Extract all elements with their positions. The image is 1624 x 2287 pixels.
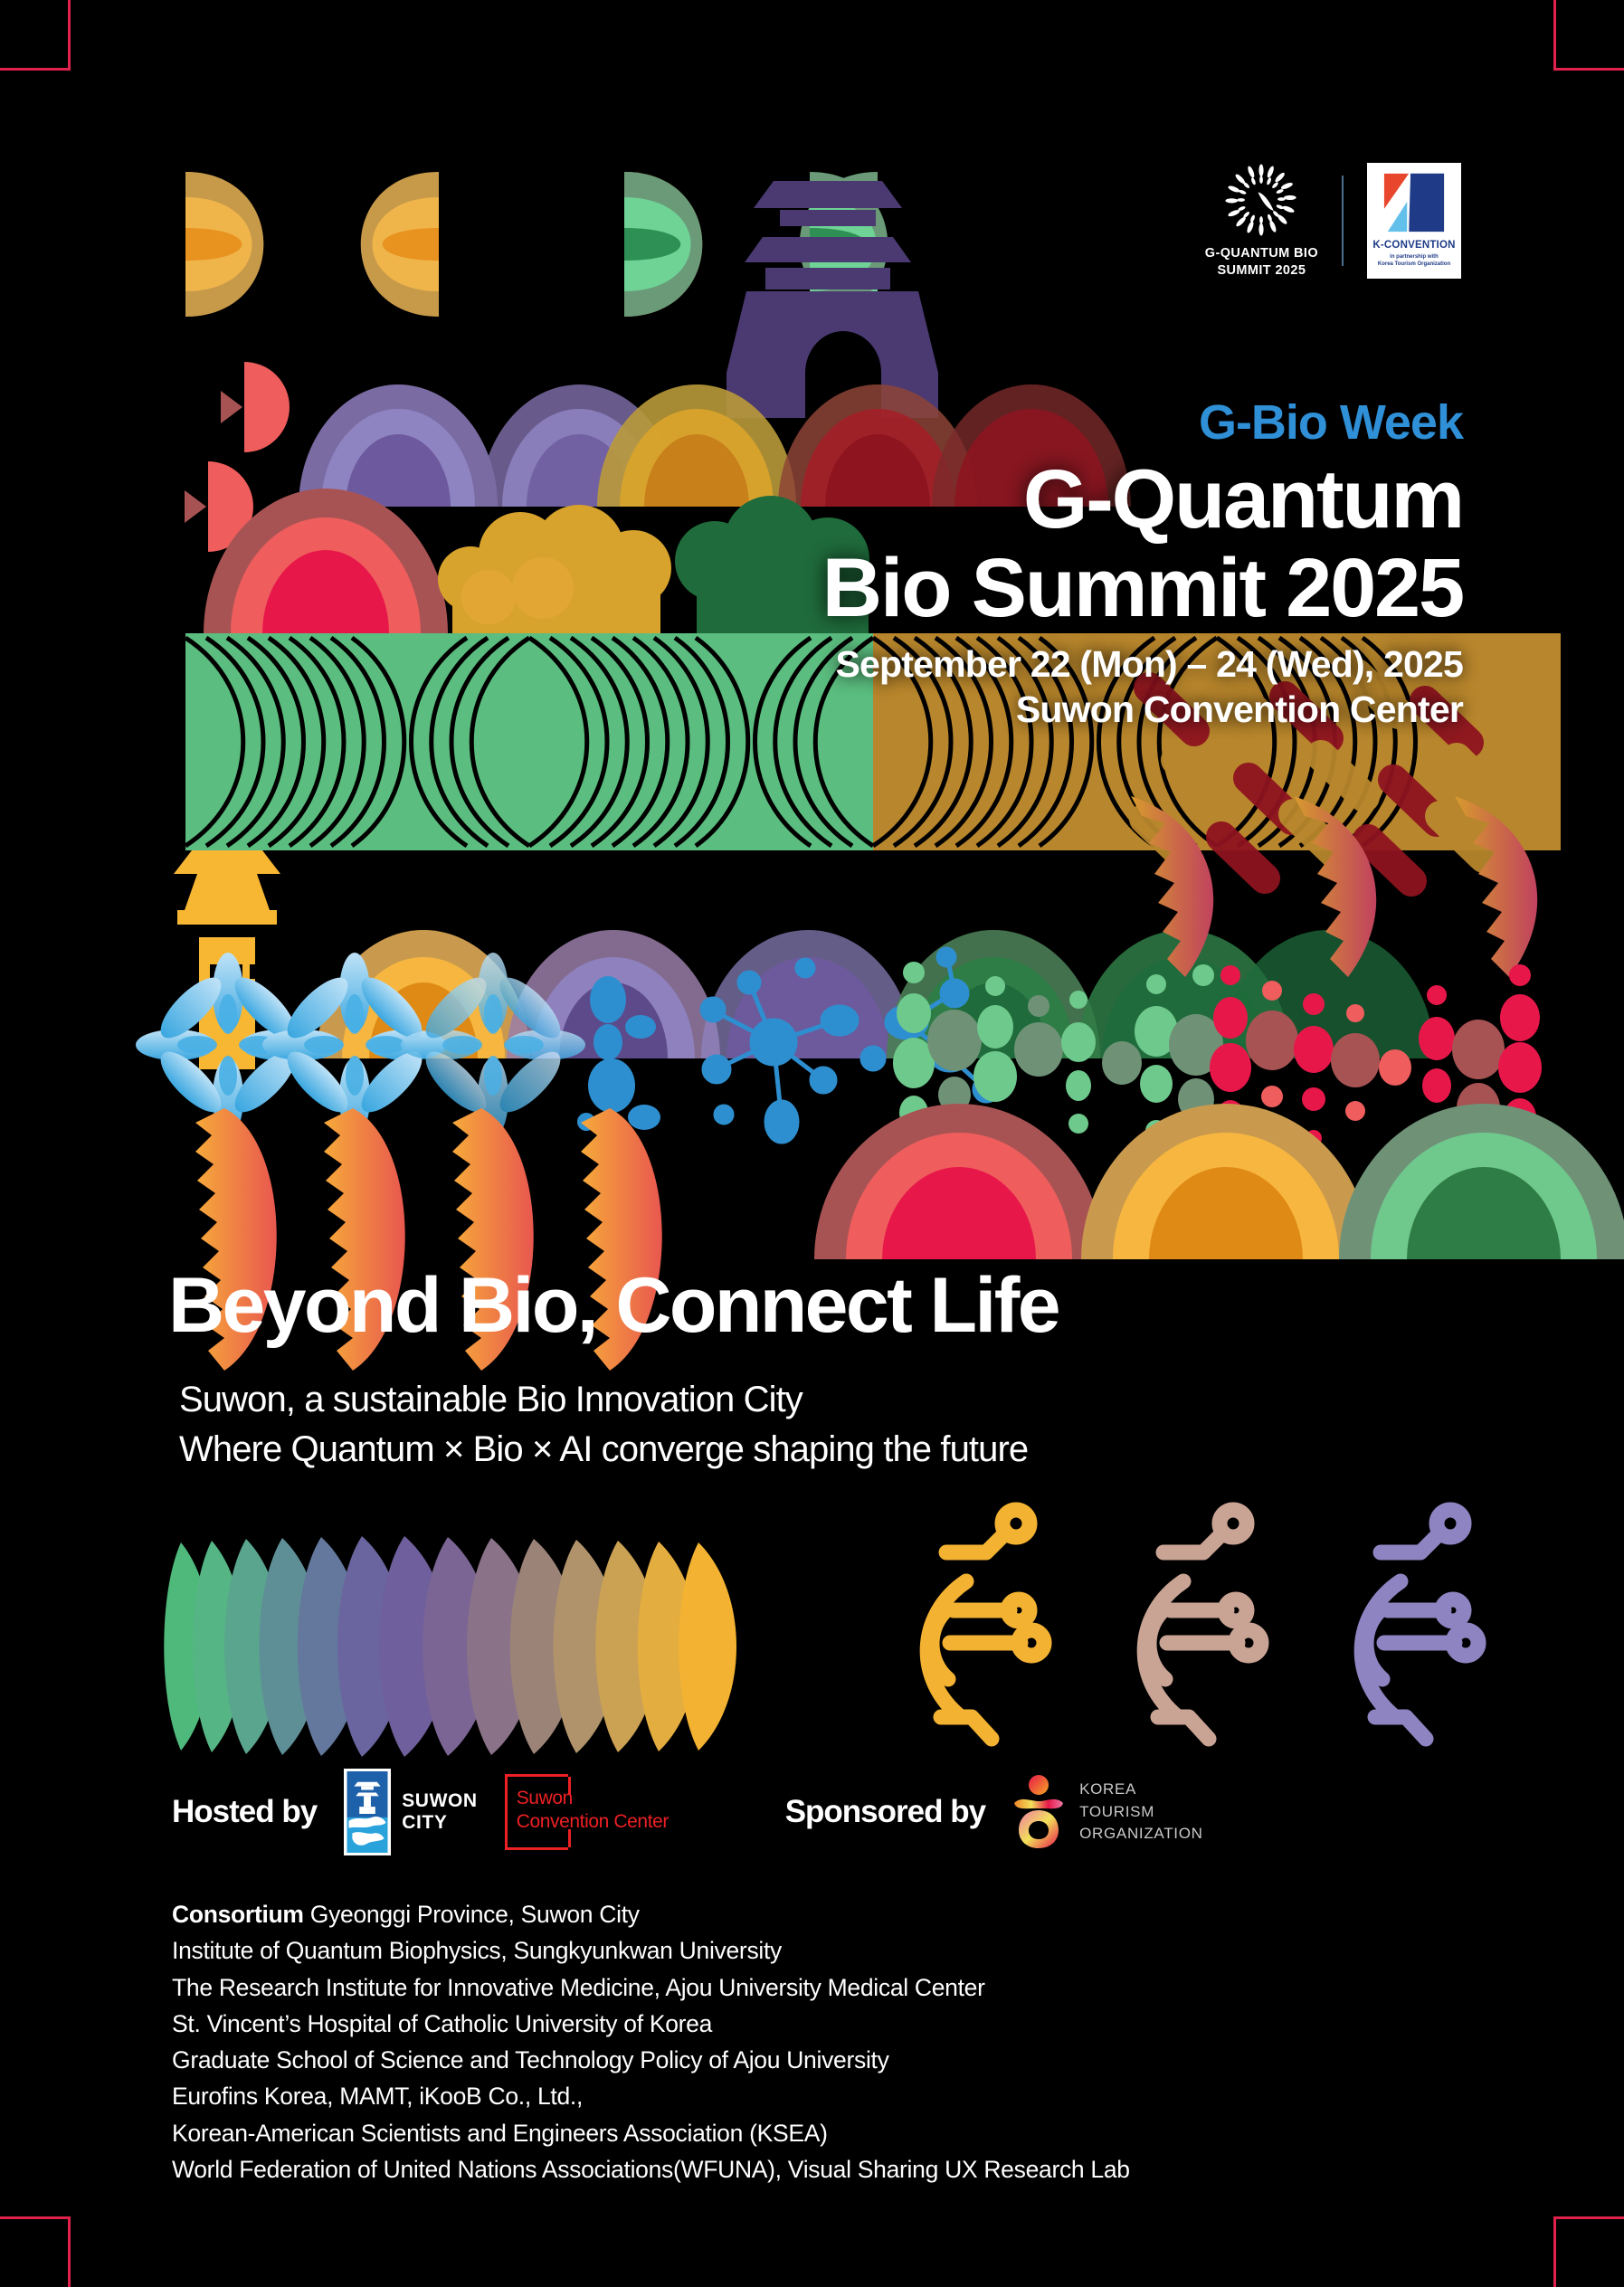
kto-line3: ORGANIZATION (1079, 1823, 1203, 1846)
sponsored-by-label: Sponsored by (785, 1794, 985, 1830)
consortium-line: Graduate School of Science and Technolog… (172, 2042, 1130, 2078)
event-logo: G-QUANTUM BIO SUMMIT 2025 (1205, 161, 1318, 280)
crop-mark-top-right (1543, 0, 1624, 81)
event-logo-line2: SUMMIT 2025 (1205, 262, 1318, 280)
event-venue: Suwon Convention Center (822, 687, 1463, 732)
radial-burst-icon (1222, 161, 1300, 239)
dome-cloud-tree (204, 489, 869, 637)
suwon-city-tower-icon (347, 1771, 388, 1853)
suwon-city-line2: CITY (402, 1812, 478, 1834)
arch-row-3 (814, 1104, 1624, 1259)
k-convention-subtitle: in partnership with Korea Tourism Organi… (1378, 253, 1450, 268)
logo-divider (1342, 176, 1344, 266)
slogan-main: Beyond Bio, Connect Life (168, 1267, 1059, 1344)
slogan-sublines: Suwon, a sustainable Bio Innovation City… (179, 1375, 1028, 1475)
k-convention-logo: K-CONVENTION in partnership with Korea T… (1367, 163, 1461, 279)
kto-logo: KOREA TOURISM ORGANIZATION (1009, 1774, 1203, 1850)
slogan-sub-1: Suwon, a sustainable Bio Innovation City (179, 1375, 1028, 1425)
k-convention-sub1: in partnership with (1378, 253, 1450, 261)
crop-mark-bottom-left (0, 2206, 81, 2287)
sponsor-group: Sponsored by (785, 1774, 1203, 1850)
kto-line1: KOREA (1079, 1779, 1203, 1801)
scc-line2: Convention Center (517, 1810, 669, 1834)
suwon-city-wordmark: SUWON CITY (402, 1790, 478, 1834)
crop-mark-bottom-right (1543, 2206, 1624, 2287)
event-dates: September 22 (Mon) – 24 (Wed), 2025 (822, 641, 1463, 687)
title-line-2: Bio Summit 2025 (822, 545, 1463, 633)
kto-wordmark: KOREA TOURISM ORGANIZATION (1079, 1779, 1203, 1846)
headline-block: G-Bio Week G-Quantum Bio Summit 2025 Sep… (822, 398, 1463, 732)
consortium-line: The Research Institute for Innovative Me… (172, 1969, 1130, 2006)
title-line-1: G-Quantum (822, 456, 1463, 545)
consortium-line: Eurofins Korea, MAMT, iKooB Co., Ltd., (172, 2078, 1130, 2114)
consortium-block: Consortium Gyeonggi Province, Suwon City… (172, 1896, 1130, 2187)
consortium-line: Korean-American Scientists and Engineers… (172, 2115, 1130, 2151)
scc-wordmark: Suwon Convention Center (517, 1787, 669, 1835)
consortium-lead-line: Consortium Gyeonggi Province, Suwon City (172, 1896, 1130, 1932)
lens-stack (164, 1536, 736, 1757)
circuit-icons (927, 1510, 1478, 1739)
k-convention-name: K-CONVENTION (1372, 240, 1455, 251)
consortium-label: Consortium (172, 1901, 304, 1928)
event-logo-text: G-QUANTUM BIO SUMMIT 2025 (1205, 245, 1318, 280)
partner-row: Hosted by SU (172, 1769, 1203, 1855)
consortium-line: St. Vincent’s Hospital of Catholic Unive… (172, 2006, 1130, 2042)
k-convention-sub2: Korea Tourism Organization (1378, 261, 1450, 268)
event-logo-line1: G-QUANTUM BIO (1205, 245, 1318, 262)
kto-figure-icon (1009, 1774, 1068, 1850)
suwon-city-badge (344, 1769, 391, 1855)
hosted-by-label: Hosted by (172, 1794, 317, 1830)
consortium-line: World Federation of United Nations Assoc… (172, 2151, 1130, 2187)
kicker-text: G-Bio Week (822, 398, 1463, 447)
consortium-line: Institute of Quantum Biophysics, Sungkyu… (172, 1932, 1130, 1969)
suwon-city-logo: SUWON CITY (344, 1769, 478, 1855)
slogan-sub-2: Where Quantum × Bio × AI converge shapin… (179, 1425, 1028, 1475)
crop-mark-top-left (0, 0, 81, 81)
k-convention-icon (1379, 170, 1449, 237)
scc-line1: Suwon (517, 1787, 669, 1810)
kto-line2: TOURISM (1079, 1801, 1203, 1824)
suwon-convention-center-logo: Suwon Convention Center (505, 1774, 690, 1850)
poster-root: G-QUANTUM BIO SUMMIT 2025 K-CONVENTION i… (0, 0, 1624, 2287)
top-logo-group: G-QUANTUM BIO SUMMIT 2025 K-CONVENTION i… (1205, 161, 1461, 280)
suwon-city-line1: SUWON (402, 1790, 478, 1812)
consortium-lead: Gyeonggi Province, Suwon City (304, 1901, 640, 1928)
